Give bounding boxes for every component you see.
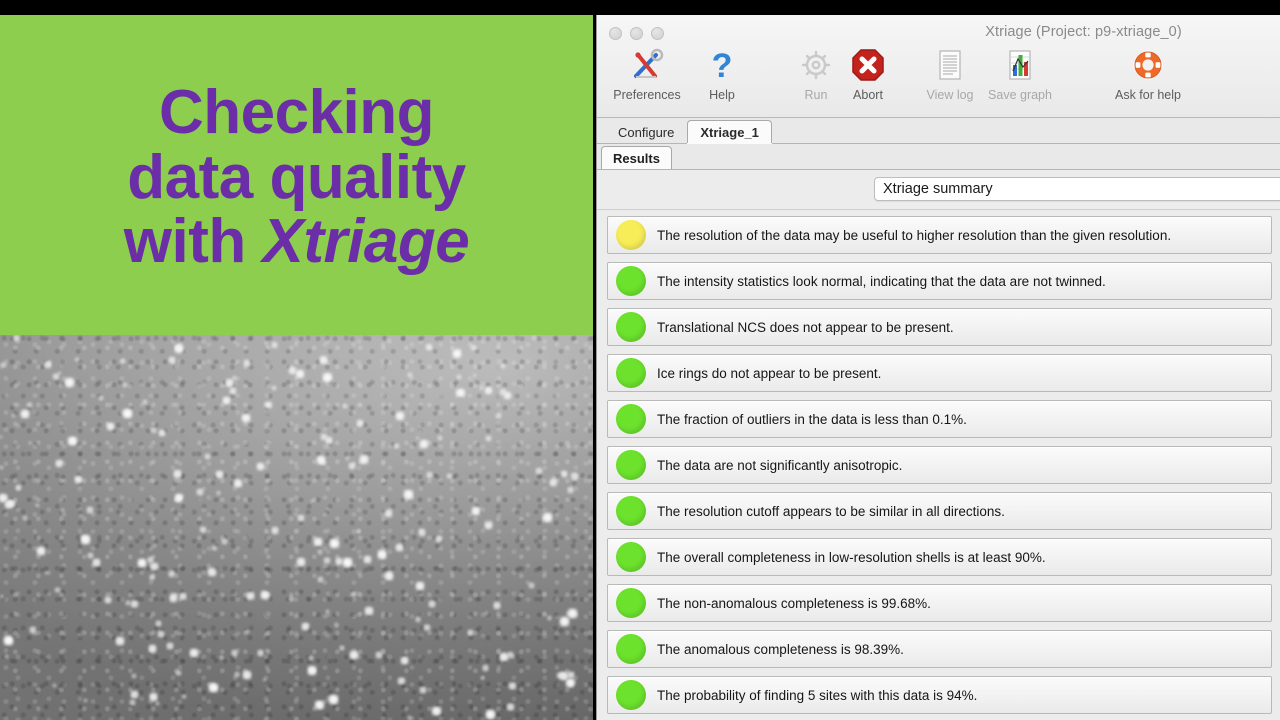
diffraction-spot	[257, 649, 265, 657]
diffraction-spot	[52, 683, 57, 688]
diffraction-spot	[506, 703, 515, 712]
toolbar-label-abort: Abort	[853, 88, 883, 102]
diffraction-spot	[482, 664, 490, 672]
diffraction-spot	[179, 592, 188, 601]
diffraction-spot	[196, 488, 204, 496]
diffraction-spot	[131, 673, 137, 679]
screen: Checking data quality with Xtriage Xtria…	[0, 0, 1280, 720]
diffraction-spot	[349, 650, 359, 660]
diffraction-spot	[547, 615, 553, 621]
diffraction-spot	[54, 587, 60, 593]
diffraction-spot	[15, 484, 22, 491]
slide-title-card: Checking data quality with Xtriage	[0, 15, 593, 335]
diffraction-spot	[316, 455, 326, 465]
diffraction-spot	[151, 427, 157, 433]
diffraction-spot	[425, 343, 432, 350]
diffraction-spot	[470, 344, 476, 350]
diffraction-spot	[342, 403, 348, 409]
diffraction-spot	[455, 388, 465, 398]
diffraction-spot	[20, 409, 30, 419]
status-indicator-ok	[616, 680, 646, 710]
slide-title-italic-word: Xtriage	[263, 207, 470, 276]
result-text: The anomalous completeness is 98.39%.	[657, 642, 904, 657]
diffraction-spot	[22, 515, 28, 521]
diffraction-spot	[271, 385, 277, 391]
status-indicator-ok	[616, 588, 646, 618]
diffraction-spot	[560, 470, 569, 479]
diffraction-spot	[260, 590, 270, 600]
diffraction-spot	[29, 626, 37, 634]
slide-title-line-2: data quality	[127, 146, 466, 210]
diffraction-spot	[570, 472, 579, 481]
diffraction-spot	[395, 411, 405, 421]
result-row[interactable]: The data are not significantly anisotrop…	[607, 446, 1272, 484]
slide-title-line-1: Checking	[159, 81, 434, 145]
slide-panel: Checking data quality with Xtriage	[0, 15, 593, 720]
tools-icon	[629, 45, 665, 85]
diffraction-spot	[495, 412, 502, 419]
diffraction-spot	[106, 422, 116, 432]
diffraction-spot	[0, 465, 4, 470]
diffraction-spot	[567, 671, 576, 680]
result-text: The fraction of outliers in the data is …	[657, 412, 967, 427]
lifebuoy-icon	[1130, 45, 1166, 85]
result-text: The non-anomalous completeness is 99.68%…	[657, 596, 931, 611]
diffraction-spot	[79, 514, 83, 518]
diffraction-spot	[11, 413, 16, 418]
diffraction-spot	[219, 655, 225, 661]
diffraction-spot	[397, 677, 406, 686]
diffraction-spot	[415, 436, 419, 440]
result-row[interactable]: The probability of finding 5 sites with …	[607, 676, 1272, 714]
result-text: The data are not significantly anisotrop…	[657, 458, 902, 473]
status-indicator-ok	[616, 266, 646, 296]
toolbar-label-preferences: Preferences	[613, 88, 680, 102]
toolbar-label-view-log: View log	[926, 88, 973, 102]
diffraction-spot	[208, 682, 219, 693]
diffraction-spot	[542, 512, 553, 523]
diffraction-spot	[271, 341, 278, 348]
diffraction-spot	[335, 557, 344, 566]
diffraction-spot	[339, 645, 346, 652]
diffraction-spot	[566, 444, 571, 449]
window-title: Xtriage (Project: p9-xtriage_0)	[597, 24, 1280, 40]
diffraction-spot	[34, 503, 40, 509]
diffraction-spot	[351, 429, 355, 433]
diffraction-spot	[307, 665, 318, 676]
diffraction-spot	[256, 462, 265, 471]
diffraction-spot	[44, 360, 53, 369]
diffraction-spot	[243, 359, 251, 367]
diffraction-image	[0, 335, 593, 720]
diffraction-spot	[484, 386, 493, 395]
result-text: Translational NCS does not appear to be …	[657, 320, 954, 335]
diffraction-spot	[155, 620, 162, 627]
diffraction-spot	[452, 348, 463, 359]
diffraction-spot	[301, 622, 310, 631]
result-row[interactable]: Translational NCS does not appear to be …	[607, 308, 1272, 346]
diffraction-spot	[472, 373, 476, 377]
document-log-icon	[932, 45, 968, 85]
diffraction-spot	[0, 594, 4, 599]
diffraction-spot	[211, 545, 217, 551]
diffraction-spot	[500, 363, 506, 369]
diffraction-spot	[499, 388, 506, 395]
diffraction-spot	[532, 335, 538, 341]
diffraction-spot	[423, 624, 431, 632]
diffraction-spot	[328, 694, 339, 705]
bar-chart-icon	[1002, 45, 1038, 85]
diffraction-spot	[130, 690, 139, 699]
diffraction-spot	[215, 470, 224, 479]
diffraction-spot	[60, 508, 65, 513]
letterbox-top	[0, 0, 1280, 15]
status-indicator-ok	[616, 634, 646, 664]
slide-title-line-3: with Xtriage	[124, 210, 469, 274]
diffraction-spot	[150, 562, 159, 571]
result-row[interactable]: The anomalous completeness is 98.39%.	[607, 630, 1272, 668]
result-row[interactable]: The non-anomalous completeness is 99.68%…	[607, 584, 1272, 622]
status-indicator-ok	[616, 450, 646, 480]
result-text: The overall completeness in low-resoluti…	[657, 550, 1046, 565]
diffraction-spot	[64, 377, 75, 388]
diffraction-spot	[323, 557, 331, 565]
diffraction-spot	[242, 670, 252, 680]
diffraction-spot	[535, 467, 542, 474]
diffraction-spot	[115, 636, 125, 646]
tab-configure[interactable]: Configure	[605, 120, 687, 143]
diffraction-spot	[149, 574, 156, 581]
diffraction-spot	[13, 335, 20, 342]
diffraction-spot	[395, 543, 404, 552]
toolbar-button-ask-for-help[interactable]: Ask for help	[1106, 45, 1190, 102]
diffraction-spot	[55, 459, 64, 468]
main-tabs: Configure Xtriage_1	[597, 118, 1280, 144]
diffraction-spot	[229, 387, 237, 395]
diffraction-spot	[181, 694, 187, 700]
tab-results[interactable]: Results	[601, 146, 672, 169]
diffraction-spot	[384, 509, 393, 518]
diffraction-spot	[325, 436, 334, 445]
diffraction-spot	[262, 678, 266, 682]
diffraction-spot	[400, 656, 410, 666]
status-indicator-warning	[616, 220, 646, 250]
diffraction-spot	[199, 526, 206, 533]
diffraction-spot	[4, 654, 9, 659]
xtriage-window: Xtriage (Project: p9-xtriage_0) Preferen…	[596, 15, 1280, 720]
window-titlebar: Xtriage (Project: p9-xtriage_0) Preferen…	[597, 15, 1280, 118]
diffraction-spot	[350, 591, 356, 597]
toolbar-button-abort[interactable]: Abort	[826, 45, 910, 102]
diffraction-spot	[308, 655, 314, 661]
results-list: The resolution of the data may be useful…	[597, 210, 1280, 720]
diffraction-spot	[418, 528, 426, 536]
diffraction-spot	[317, 549, 323, 555]
diffraction-spot	[403, 489, 414, 500]
diffraction-spot	[296, 557, 306, 567]
diffraction-spot	[83, 698, 88, 703]
diffraction-spot	[232, 375, 238, 381]
diffraction-spot	[295, 369, 305, 379]
diffraction-spot	[565, 678, 576, 689]
result-text: The probability of finding 5 sites with …	[657, 688, 977, 703]
diffraction-spot	[231, 649, 238, 656]
toolbar-label-ask-for-help: Ask for help	[1115, 88, 1181, 102]
toolbar-button-preferences[interactable]: Preferences	[605, 45, 689, 102]
diffraction-spot	[484, 611, 488, 615]
diffraction-spot	[297, 514, 305, 522]
diffraction-spot	[393, 443, 400, 450]
toolbar-label-help: Help	[709, 88, 735, 102]
diffraction-spot	[431, 706, 441, 716]
diffraction-spot	[166, 642, 174, 650]
diffraction-spot	[359, 454, 369, 464]
result-text: The intensity statistics look normal, in…	[657, 274, 1106, 289]
diffraction-spot	[0, 435, 3, 439]
diffraction-spot	[241, 413, 251, 423]
diffraction-spot	[168, 570, 175, 577]
result-row[interactable]: The resolution of the data may be useful…	[607, 216, 1272, 254]
diffraction-spot	[233, 479, 243, 489]
toolbar-label-run: Run	[805, 88, 828, 102]
diffraction-spot	[437, 435, 443, 441]
result-row[interactable]: The resolution cutoff appears to be simi…	[607, 492, 1272, 530]
diffraction-spot	[484, 520, 493, 529]
diffraction-spot	[467, 629, 474, 636]
diffraction-spot	[3, 635, 14, 646]
toolbar-button-help[interactable]: ? Help	[680, 45, 764, 102]
diffraction-spot	[317, 576, 324, 583]
diffraction-spot	[322, 372, 333, 383]
diffraction-spot	[528, 582, 535, 589]
diffraction-spot	[407, 715, 412, 720]
diffraction-spot	[507, 651, 515, 659]
slide-title-line-3-text: with	[124, 207, 263, 276]
diffraction-spot	[221, 538, 228, 545]
diffraction-spot	[415, 616, 422, 623]
diffraction-spot	[130, 600, 139, 609]
diffraction-spot	[0, 362, 7, 369]
diffraction-spot	[169, 593, 179, 603]
diffraction-spots	[0, 335, 593, 720]
diffraction-spot	[142, 399, 148, 405]
svg-text:?: ?	[712, 47, 733, 83]
diffraction-spot	[122, 382, 128, 388]
diffraction-spot	[245, 629, 250, 634]
status-indicator-ok	[616, 312, 646, 342]
result-text: The resolution of the data may be useful…	[657, 228, 1171, 243]
diffraction-spot	[234, 671, 240, 677]
diffraction-spot	[313, 537, 323, 547]
diffraction-spot	[26, 402, 32, 408]
diffraction-spot	[508, 682, 517, 691]
diffraction-spot	[44, 571, 48, 575]
diffraction-spot	[129, 699, 136, 706]
diffraction-spot	[36, 546, 46, 556]
diffraction-spot	[446, 473, 453, 480]
diffraction-spot	[325, 609, 330, 614]
diffraction-spot	[319, 355, 328, 364]
status-indicator-ok	[616, 358, 646, 388]
diffraction-spot	[329, 538, 340, 549]
diffraction-spot	[493, 601, 501, 609]
diffraction-spot	[356, 529, 361, 534]
diffraction-spot	[310, 499, 314, 503]
diffraction-spot	[407, 372, 413, 378]
diffraction-spot	[342, 557, 353, 568]
diffraction-spot	[98, 395, 104, 401]
diffraction-spot	[435, 535, 443, 543]
toolbar-label-save-graph: Save graph	[988, 88, 1052, 102]
sub-tabs: Results	[597, 144, 1280, 170]
diffraction-spot	[456, 374, 462, 380]
diffraction-spot	[384, 571, 394, 581]
tab-xtriage-1[interactable]: Xtriage_1	[687, 120, 772, 143]
result-row[interactable]: The overall completeness in low-resoluti…	[607, 538, 1272, 576]
diffraction-spot	[385, 337, 390, 342]
status-indicator-ok	[616, 496, 646, 526]
diffraction-spot	[485, 435, 492, 442]
diffraction-spot	[152, 544, 156, 548]
diffraction-spot	[415, 581, 425, 591]
diffraction-spot	[377, 549, 388, 560]
diffraction-spot	[356, 419, 364, 427]
diffraction-spot	[67, 436, 78, 447]
diffraction-spot	[418, 429, 423, 434]
result-row[interactable]: Ice rings do not appear to be present.	[607, 354, 1272, 392]
diffraction-spot	[428, 600, 436, 608]
diffraction-spot	[485, 709, 496, 720]
diffraction-spot	[426, 471, 433, 478]
diffraction-spot	[92, 558, 101, 567]
diffraction-spot	[168, 356, 176, 364]
diffraction-spot	[552, 475, 557, 480]
diffraction-spot	[288, 596, 294, 602]
diffraction-spot	[74, 357, 80, 363]
diffraction-spot	[556, 672, 564, 680]
diffraction-spot	[314, 700, 325, 711]
selector-bar: Xtriage summary	[597, 170, 1280, 210]
stop-x-icon	[850, 45, 886, 85]
diffraction-spot	[175, 670, 181, 676]
diffraction-spot	[158, 429, 167, 438]
toolbar-button-save-graph[interactable]: Save graph	[978, 45, 1062, 102]
diffraction-spot	[471, 506, 481, 516]
diffraction-spot	[28, 441, 33, 446]
diffraction-spot	[271, 526, 279, 534]
status-indicator-ok	[616, 404, 646, 434]
result-row[interactable]: The fraction of outliers in the data is …	[607, 400, 1272, 438]
result-text: The resolution cutoff appears to be simi…	[657, 504, 1005, 519]
diffraction-spot	[174, 493, 184, 503]
diffraction-spot	[189, 648, 199, 658]
diffraction-spot	[334, 622, 339, 627]
xtriage-summary-dropdown[interactable]: Xtriage summary	[874, 177, 1280, 201]
diffraction-spot	[120, 358, 126, 364]
diffraction-spot	[122, 408, 133, 419]
diffraction-spot	[480, 676, 485, 681]
diffraction-spot	[549, 478, 558, 487]
toolbar: Preferences ? Help	[597, 45, 1280, 117]
diffraction-spot	[137, 558, 148, 569]
diffraction-spot	[567, 486, 574, 493]
diffraction-spot	[104, 596, 112, 604]
diffraction-spot	[264, 401, 272, 409]
diffraction-spot	[222, 396, 232, 406]
diffraction-spot	[419, 439, 429, 449]
diffraction-spot	[74, 475, 84, 485]
result-row[interactable]: The intensity statistics look normal, in…	[607, 262, 1272, 300]
diffraction-spot	[204, 453, 211, 460]
diffraction-spot	[149, 692, 159, 702]
diffraction-spot	[207, 567, 216, 576]
diffraction-spot	[246, 591, 255, 600]
diffraction-spot	[86, 506, 94, 514]
diffraction-spot	[174, 343, 185, 354]
diffraction-spot	[567, 608, 578, 619]
diffraction-spot	[348, 462, 356, 470]
diffraction-spot	[345, 456, 350, 461]
status-indicator-ok	[616, 542, 646, 572]
diffraction-spot	[157, 630, 165, 638]
diffraction-spot	[173, 469, 182, 478]
diffraction-spot	[216, 490, 221, 495]
diffraction-spot	[375, 651, 383, 659]
diffraction-spot	[80, 534, 91, 545]
diffraction-spot	[363, 555, 372, 564]
diffraction-spot	[419, 686, 427, 694]
result-text: Ice rings do not appear to be present.	[657, 366, 881, 381]
diffraction-spot	[57, 371, 61, 375]
question-mark-icon: ?	[704, 45, 740, 85]
diffraction-spot	[364, 606, 374, 616]
diffraction-spot	[148, 644, 157, 653]
diffraction-spot	[7, 499, 16, 508]
